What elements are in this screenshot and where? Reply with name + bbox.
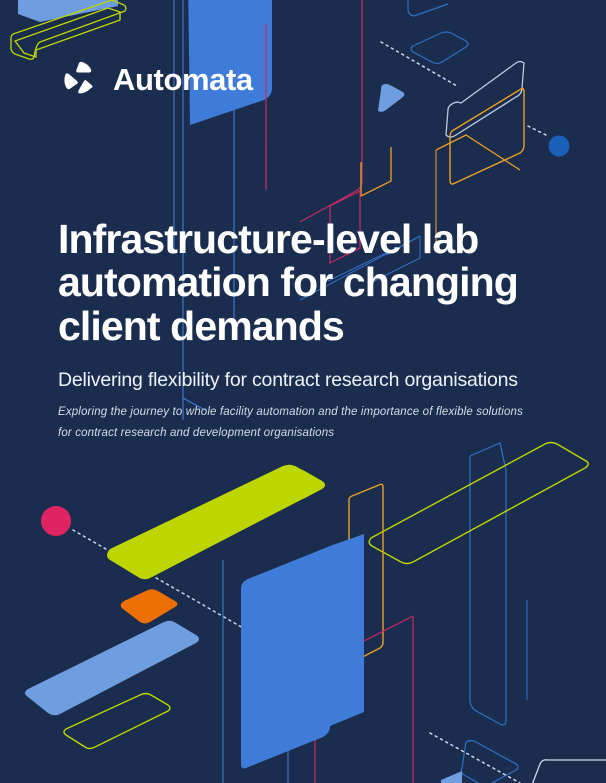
automata-triskelion-icon xyxy=(58,58,100,100)
brand-logo-lockup[interactable]: Automata xyxy=(58,58,253,100)
whitepaper-cover-page: Automata Infrastructure-level lab automa… xyxy=(0,0,606,783)
cover-content: Automata Infrastructure-level lab automa… xyxy=(0,0,606,783)
page-description: Exploring the journey to whole facility … xyxy=(58,402,528,445)
page-title: Infrastructure-level lab automation for … xyxy=(58,218,558,348)
brand-name: Automata xyxy=(113,64,253,95)
page-subtitle: Delivering flexibility for contract rese… xyxy=(58,368,563,392)
